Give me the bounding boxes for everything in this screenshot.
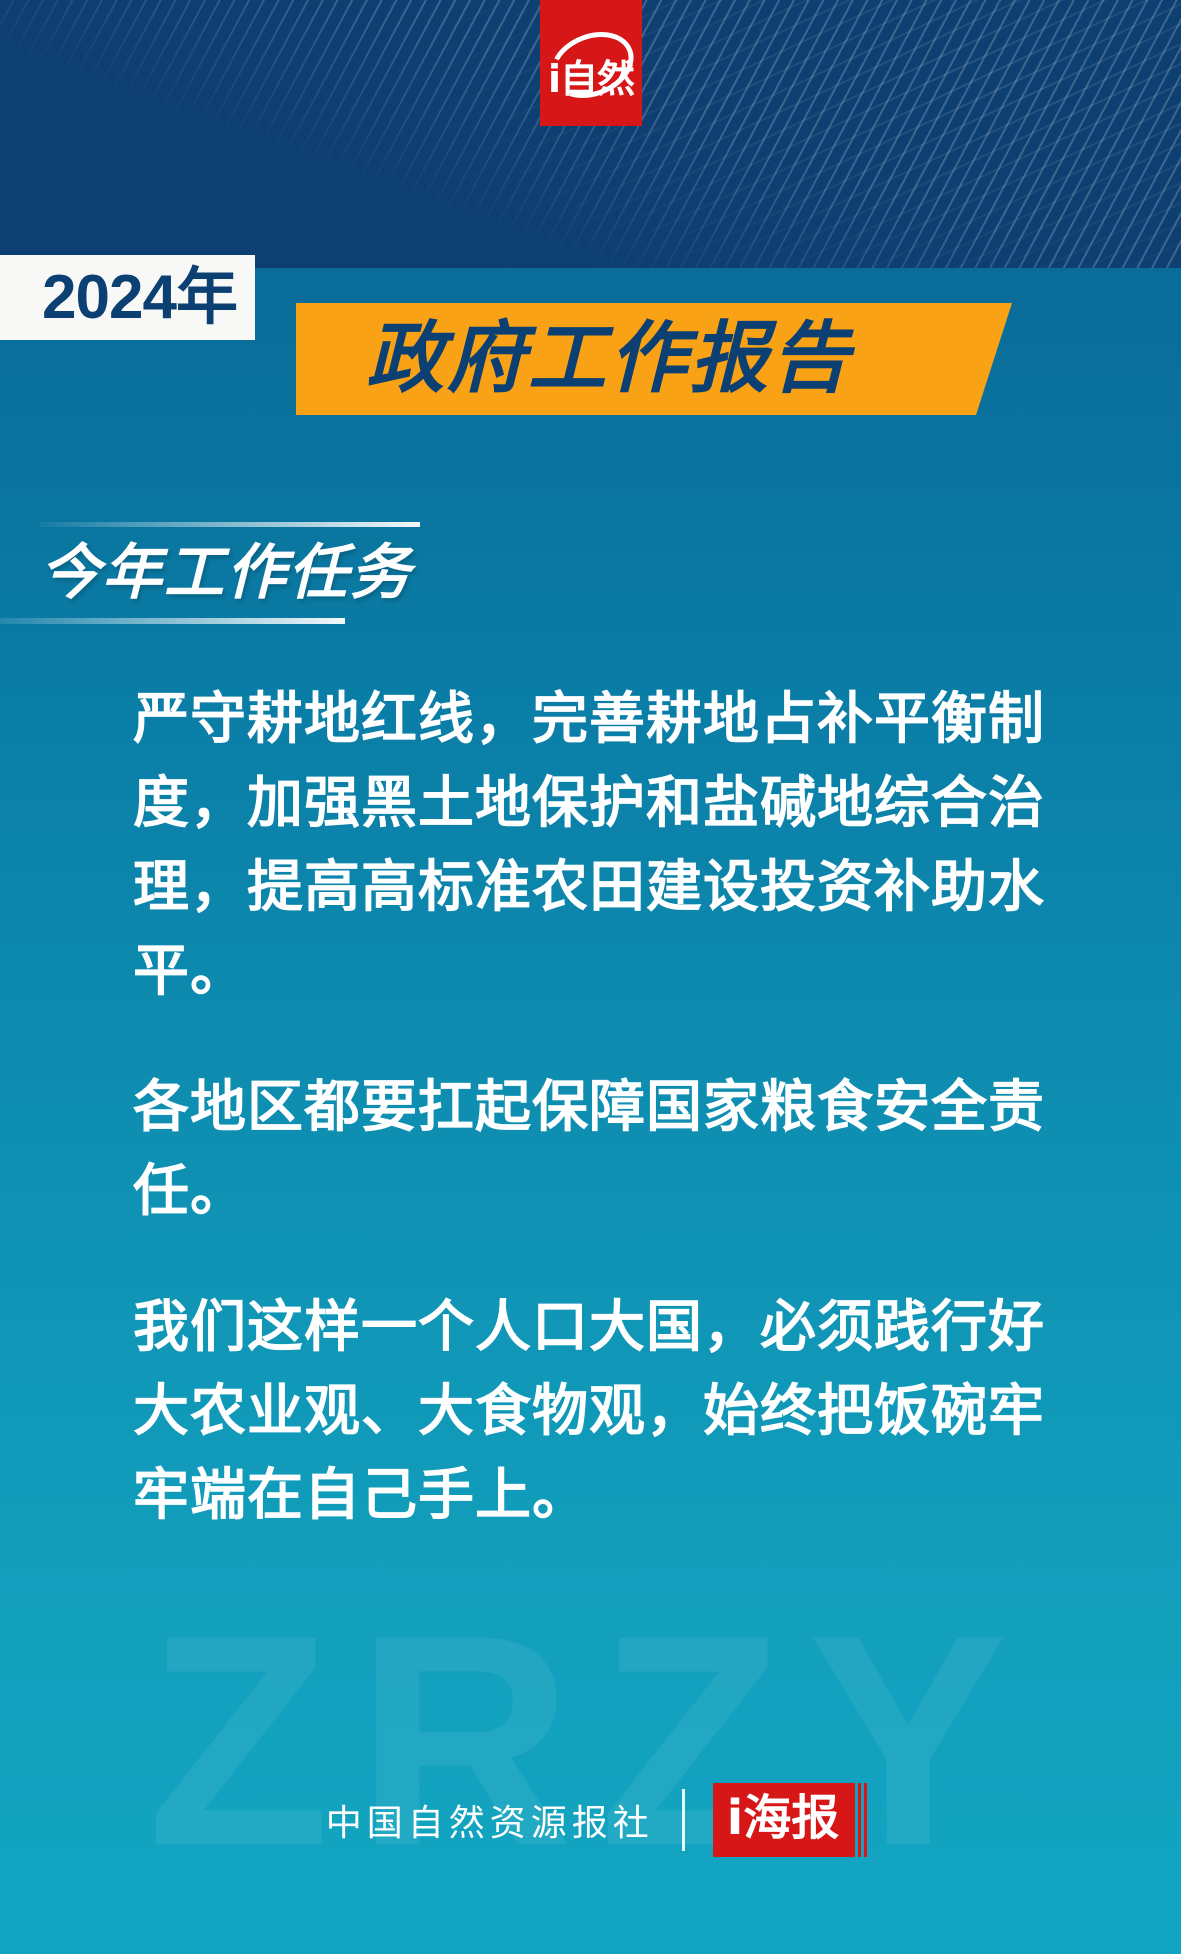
poster-root: ZRZY i自然 2024年 政府工作报告 今年工作任务 严守耕地红线，完善耕地… xyxy=(0,0,1181,1954)
paragraph: 严守耕地红线，完善耕地占补平衡制度，加强黑土地保护和盐碱地综合治理，提高高标准农… xyxy=(133,678,1053,1014)
iposter-logo-text: i海报 xyxy=(727,1789,839,1847)
heading-rule-bottom xyxy=(0,618,345,624)
footer: 中国自然资源报社 i海报 xyxy=(0,1774,1181,1866)
report-title: 政府工作报告 xyxy=(366,313,852,405)
paragraph: 我们这样一个人口大国，必须践行好大农业观、大食物观，始终把饭碗牢牢端在自己手上。 xyxy=(133,1286,1053,1538)
report-title-banner: 政府工作报告 xyxy=(296,303,1012,415)
izirang-brand-logo: i自然 xyxy=(540,0,642,126)
year-badge: 2024年 xyxy=(0,255,255,340)
year-label: 2024年 xyxy=(42,267,237,329)
background-watermark: ZRZY xyxy=(0,1530,1181,1950)
section-heading: 今年工作任务 xyxy=(40,536,412,610)
logo-edge-bars xyxy=(858,1783,867,1857)
brand-logo-text: i自然 xyxy=(540,60,642,98)
iposter-logo: i海报 xyxy=(713,1783,855,1857)
footer-divider xyxy=(682,1789,685,1851)
body-content: 严守耕地红线，完善耕地占补平衡制度，加强黑土地保护和盐碱地综合治理，提高高标准农… xyxy=(133,678,1053,1538)
paragraph: 各地区都要扛起保障国家粮食安全责任。 xyxy=(133,1066,1053,1234)
publisher-name: 中国自然资源报社 xyxy=(326,1794,654,1846)
heading-rule-top xyxy=(40,522,420,527)
